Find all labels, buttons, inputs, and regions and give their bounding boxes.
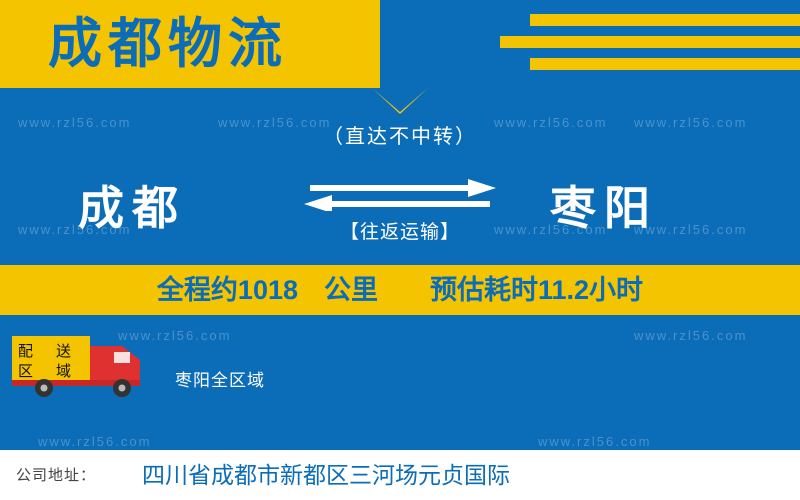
truck-badge-char-4: 域 [56,363,71,380]
watermark: www.rzl56.com [538,434,651,449]
watermark: www.rzl56.com [38,434,151,449]
address-label: 公司地址： [16,450,96,500]
logistics-banner: 成都物流 成都 枣阳 （直达不中转） 【往返运输】 全程约1018公里预估耗时1… [0,0,800,500]
coverage-area-label: 枣阳全区域 [175,366,265,391]
stripe-3 [530,58,800,70]
destination-city: 枣阳 [550,172,658,238]
address-value: 四川省成都市新都区三河场元贞国际 [142,450,510,500]
stripe-1 [530,14,800,26]
bidirectional-arrows-icon [300,171,500,211]
delivery-truck-icon: 配 送 区 域 [10,330,170,400]
roundtrip-note: 【往返运输】 [280,217,520,244]
distance-unit: 公里 [324,275,378,305]
route-middle: （直达不中转） 【往返运输】 [280,120,520,244]
truck-badge-char-2: 送 [56,343,71,360]
info-band-text: 全程约1018公里预估耗时11.2小时 [0,265,800,315]
truck-badge-char-1: 配 [18,343,33,360]
watermark: www.rzl56.com [634,328,747,343]
header-stripes [380,0,800,88]
truck-badge-char-3: 区 [18,363,33,380]
origin-city: 成都 [78,172,186,238]
direct-note: （直达不中转） [280,120,520,149]
banner-title: 成都物流 [48,8,288,80]
stripe-2 [500,36,800,48]
duration-value: 预估耗时11.2小时 [430,275,643,305]
route-section: 成都 枣阳 （直达不中转） 【往返运输】 [0,120,800,265]
chevron-down-icon [372,88,428,114]
distance-value: 全程约1018 [157,275,298,305]
